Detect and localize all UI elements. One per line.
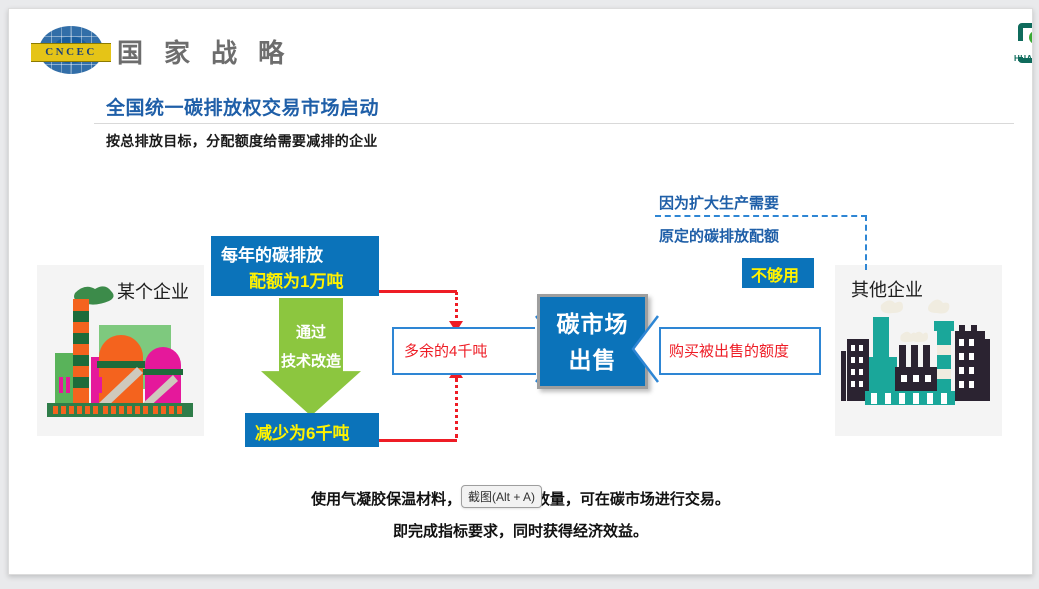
annual-quota-line2: 配额为1万吨	[249, 267, 343, 292]
not-enough-badge: 不够用	[742, 258, 814, 288]
blue-dashed-horizontal	[655, 215, 867, 217]
reduced-emission-box: 减少为6千吨	[245, 413, 379, 447]
buy-arrowhead-icon	[631, 314, 659, 384]
red-connector-top	[379, 290, 457, 293]
red-dashed-up	[455, 378, 458, 438]
annual-quota-line1: 每年的碳排放	[221, 241, 323, 266]
surplus-sell-label: 多余的4千吨	[404, 340, 487, 361]
footer-line1-part3: 排放量，可在碳市场进行交易。	[520, 491, 730, 508]
technology-upgrade-line2: 技术改造	[261, 350, 361, 371]
annual-quota-box: 每年的碳排放 配额为1万吨	[211, 236, 379, 296]
expand-production-note: 因为扩大生产需要	[659, 192, 779, 213]
footer-line-2: 即完成指标要求，同时获得经济效益。	[9, 520, 1032, 541]
red-dashed-down	[455, 292, 458, 324]
slide-canvas: CNCEC 国 家 战 略 HUALU 华陆新材 CNCEC Hualu New…	[8, 8, 1033, 575]
purchase-arrow-label: 购买被出售的额度	[669, 340, 789, 361]
factory-right-panel: 其他企业	[835, 265, 1002, 436]
factory-left-label: 某个企业	[117, 278, 189, 304]
not-enough-label: 不够用	[751, 262, 799, 286]
screenshot-tooltip-button[interactable]: 截图(Alt + A)	[461, 485, 542, 508]
page-subtitle: 按总排放目标，分配额度给需要减排的企业	[106, 131, 378, 151]
carbon-market-line1: 碳市场	[540, 305, 645, 339]
carbon-market-line2: 出售	[540, 341, 645, 375]
surplus-sell-arrow: 多余的4千吨	[392, 327, 541, 375]
cncec-logo: CNCEC	[31, 23, 111, 78]
red-connector-bottom	[379, 439, 457, 442]
technology-upgrade-line1: 通过	[261, 321, 361, 342]
blue-dashed-vertical	[865, 215, 867, 270]
purchase-arrow: 购买被出售的额度	[659, 327, 821, 375]
technology-upgrade-arrow: 通过 技术改造	[261, 298, 361, 416]
hualu-mark-text: HUALU	[1014, 54, 1033, 63]
cncec-wordmark: CNCEC	[31, 43, 111, 62]
page-title: 全国统一碳排放权交易市场启动	[106, 93, 379, 120]
footer-line1-part1: 使用气凝胶保温材料，为	[311, 491, 476, 508]
factory-left-panel: 某个企业	[37, 265, 204, 436]
reduced-emission-label: 减少为6千吨	[255, 419, 349, 444]
factory-right-label: 其他企业	[851, 276, 923, 302]
original-quota-note: 原定的碳排放配额	[659, 225, 779, 246]
title-divider	[94, 123, 1014, 124]
hualu-mark-icon: HUALU	[1014, 23, 1033, 63]
header-org-title: 国 家 战 略	[117, 33, 290, 70]
